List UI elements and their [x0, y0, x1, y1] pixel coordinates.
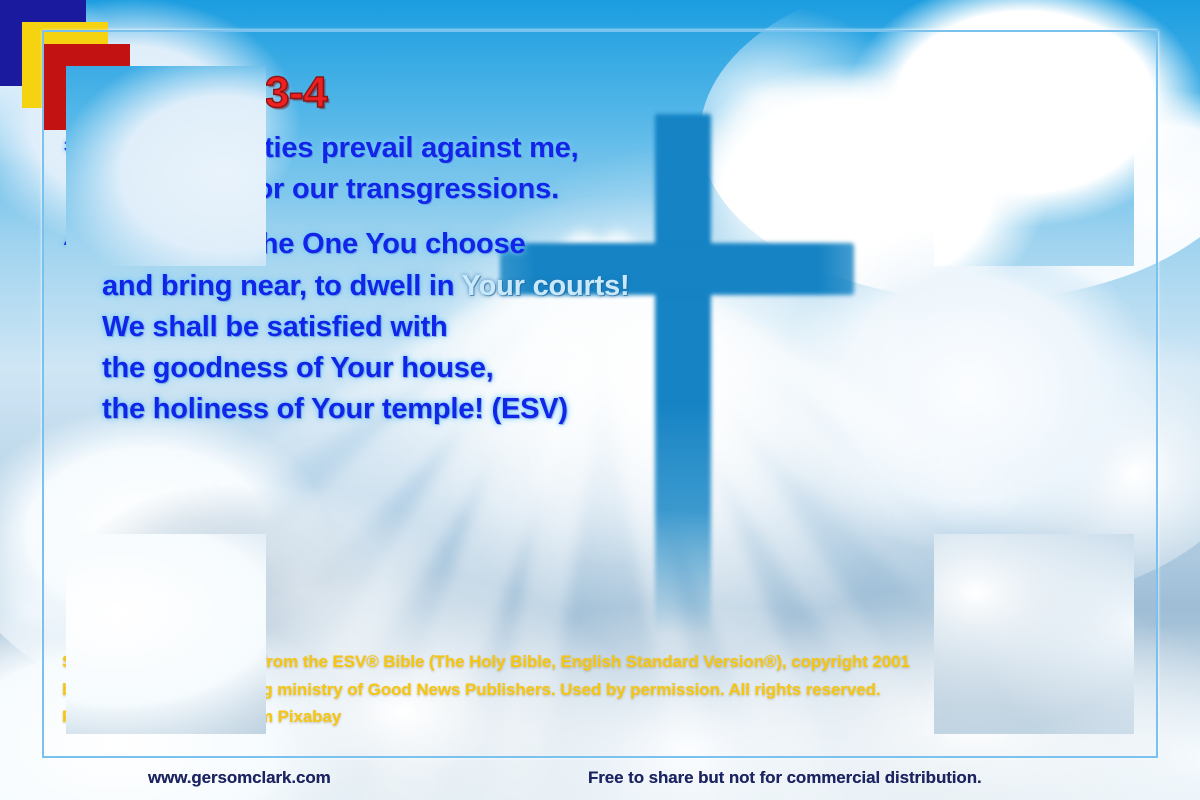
corner-mask-bottom-right: [934, 534, 1134, 734]
scripture-poster: Psalm 65:3-4 3 When iniquities prevail a…: [0, 0, 1200, 800]
verse-line-text: and bring near, to dwell in: [102, 270, 462, 302]
verse-line: the holiness of Your temple! (ESV): [102, 389, 762, 430]
website-url-overlay[interactable]: www.gersomclark.com: [148, 768, 331, 788]
corner-mask-bottom-left: [66, 534, 266, 734]
corner-mask-top-left: [66, 66, 266, 266]
corner-mask-top-right: [934, 66, 1134, 266]
verse-line: the goodness of Your house,: [102, 348, 762, 389]
verse-line: We shall be satisfied with: [102, 307, 762, 348]
distribution-notice-overlay: Free to share but not for commercial dis…: [588, 768, 982, 788]
verse-line-with-highlight: and bring near, to dwell in Your courts!: [102, 266, 762, 307]
highlighted-phrase: Your courts!: [462, 270, 630, 302]
